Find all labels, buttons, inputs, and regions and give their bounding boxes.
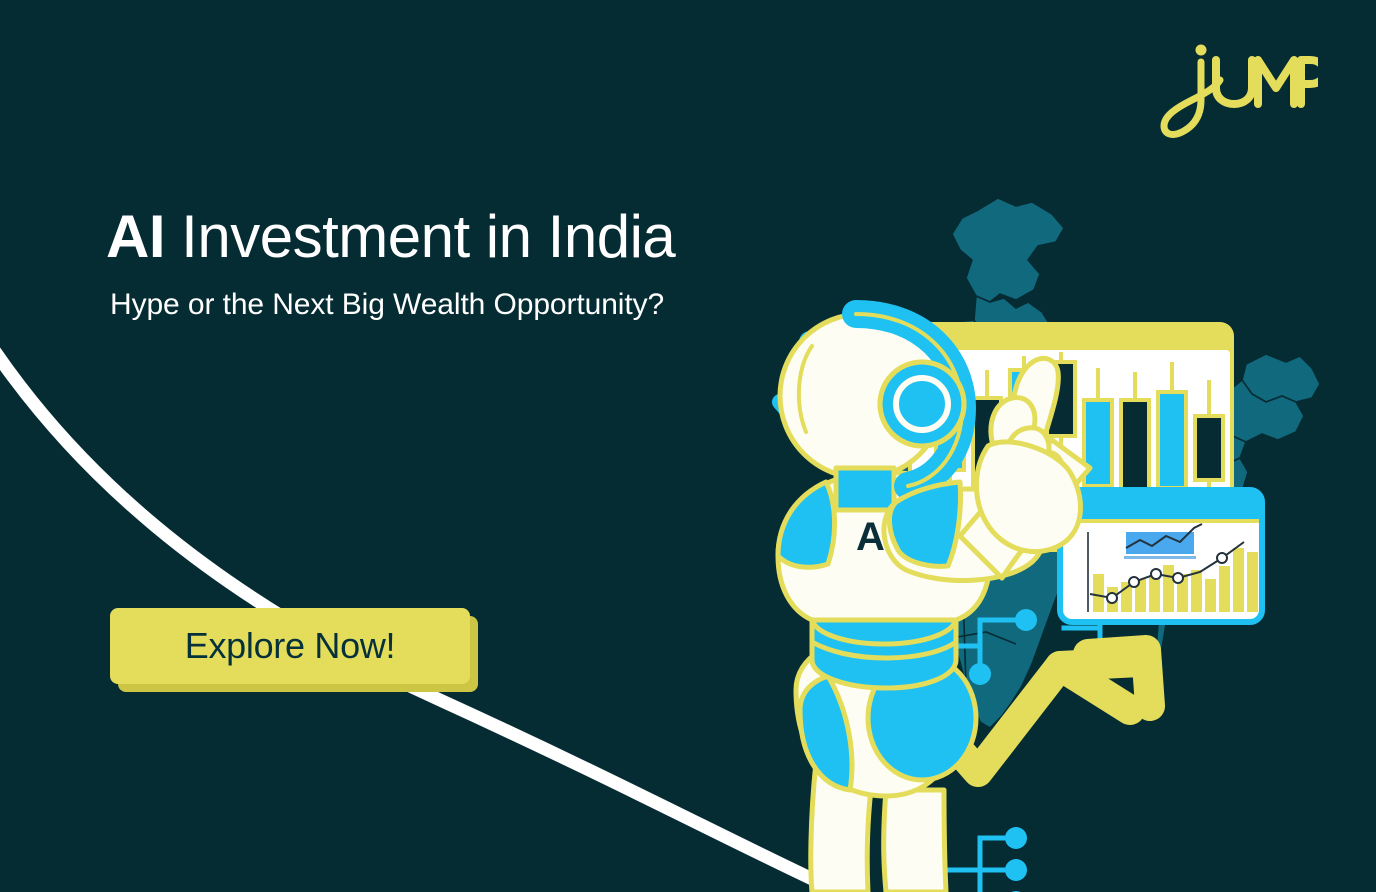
circuit-dots-lower — [1005, 827, 1027, 892]
jumpp-logo-icon[interactable] — [1158, 42, 1318, 152]
page-title: AI Investment in India — [106, 206, 675, 268]
page-subtitle: Hype or the Next Big Wealth Opportunity? — [110, 288, 664, 322]
explore-now-button[interactable]: Explore Now! — [110, 608, 470, 684]
circuit-nodes-lower — [940, 838, 1008, 892]
analytics-dashboard — [1060, 490, 1262, 622]
hero-banner: AI Investment in India Hype or the Next … — [0, 0, 1376, 892]
title-rest: Investment in India — [165, 203, 675, 270]
cta-container: Explore Now! — [110, 608, 470, 684]
ai-investment-illustration: AI — [660, 150, 1376, 892]
title-accent: AI — [106, 203, 165, 270]
